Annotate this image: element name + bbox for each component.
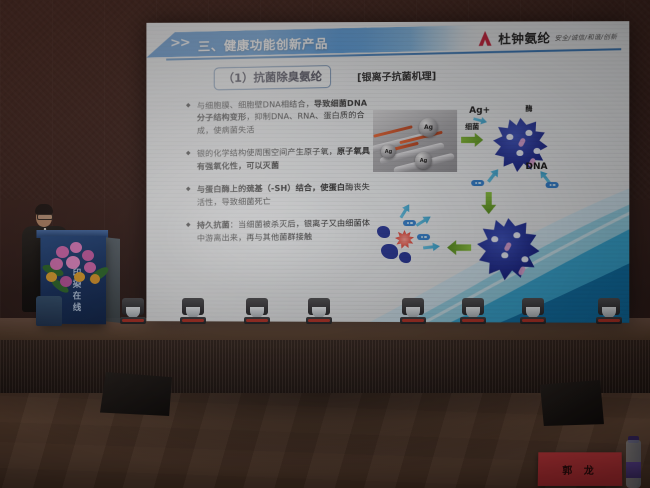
bacteria-destroyed-burst: [395, 230, 414, 249]
slide-title: 三、健康功能创新产品: [198, 33, 328, 55]
label-ag-ion: Ag+: [469, 106, 490, 116]
silver-ion-ball: Ag: [419, 118, 438, 137]
blue-arrow-icon: [484, 166, 503, 185]
brand-logo: 杜钟氨纶 安全/诚信/和谐/创新: [475, 26, 617, 48]
silver-ion-ball: Ag: [381, 144, 396, 159]
green-arrow-left-icon: [447, 240, 471, 255]
label-bacteria: 细菌: [465, 122, 479, 132]
mechanism-diagram: Ag Ag Ag Ag+ 细菌 酶 DNA: [373, 100, 624, 296]
floor-monitor-left: [100, 372, 172, 416]
brand-tagline: 安全/诚信/和谐/创新: [555, 30, 617, 41]
moving-head-stage-light-3: [244, 296, 270, 326]
moving-head-stage-light-6: [460, 296, 486, 326]
chevron-arrows-icon: >>: [170, 35, 190, 50]
green-arrow-down-icon: [481, 192, 496, 214]
moving-head-stage-light-8: [596, 296, 622, 326]
projection-screen: >> 三、健康功能创新产品 杜钟氨纶 安全/诚信/和谐/创新 （1）抗菌除臭氨纶…: [146, 21, 629, 323]
dead-bacteria-blob: [377, 226, 390, 238]
silver-ion-ball: Ag: [415, 152, 432, 169]
trash-bin: [36, 296, 62, 326]
silver-fiber-photo: Ag Ag Ag: [373, 110, 457, 172]
moving-head-stage-light-2: [180, 296, 206, 326]
moving-head-stage-light-7: [520, 296, 546, 326]
name-card: 郭 龙: [538, 452, 623, 486]
slide-bullet-3: 与蛋白酶上的巯基（-SH）结合，使蛋白酶丧失活性，导致细菌死亡: [186, 181, 375, 209]
slide-subtitle: （1）抗菌除臭氨纶: [214, 65, 331, 90]
slide-bullet-2: 银的化学结构使周围空间产生原子氧，原子氧具有强氧化性，可以灭菌: [186, 145, 375, 173]
conference-photo-scene: >> 三、健康功能创新产品 杜钟氨纶 安全/诚信/和谐/创新 （1）抗菌除臭氨纶…: [0, 0, 650, 488]
blue-arrow-icon: [423, 241, 441, 253]
moving-head-stage-light-4: [306, 296, 332, 326]
spandex-logo-icon: [475, 31, 494, 46]
slide-bullet-1: 与细胞膜、细胞壁DNA相结合，导致细菌DNA分子结构变形，抑制DNA、RNA、蛋…: [186, 97, 375, 138]
slide-bullet-list: 与细胞膜、细胞壁DNA相结合，导致细菌DNA分子结构变形，抑制DNA、RNA、蛋…: [186, 97, 375, 256]
dead-bacteria-blob: [399, 252, 411, 263]
label-enzyme: 酶: [525, 104, 532, 114]
flower-arrangement: [40, 240, 112, 296]
brand-name: 杜钟氨纶: [498, 27, 550, 47]
slide-section-note: [银离子抗菌机理]: [357, 67, 436, 84]
blue-arrow-icon: [414, 212, 434, 229]
dead-bacteria-blob: [381, 244, 398, 259]
blue-arrow-icon: [397, 202, 414, 221]
moving-head-stage-light-1: [120, 296, 146, 326]
moving-head-stage-light-5: [400, 296, 426, 326]
label-dna: DNA: [525, 162, 547, 172]
green-arrow-right-icon: [461, 133, 483, 147]
bottle-label: [626, 462, 641, 478]
speaker-glasses: [37, 214, 53, 220]
slide-bullet-4: 持久抗菌：当细菌被杀灭后，银离子又由细菌体中游离出来，再与其他菌群接触: [186, 217, 375, 245]
floor-monitor-right: [540, 380, 604, 426]
